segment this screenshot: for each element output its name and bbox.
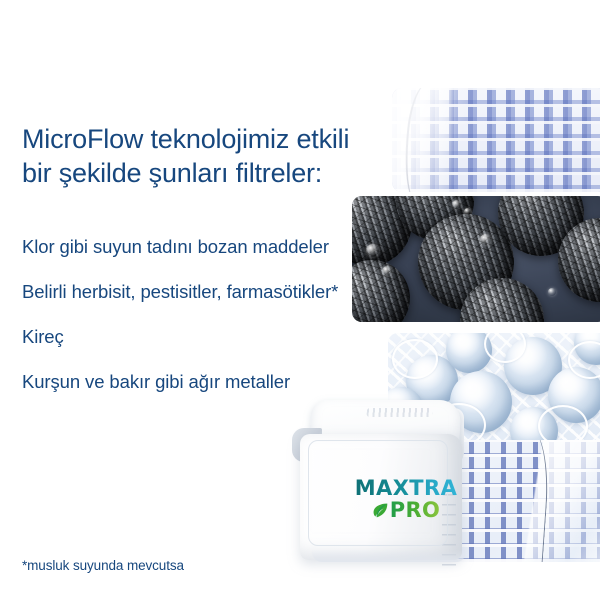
water-bubble <box>366 244 379 257</box>
benefit-list: Klor gibi suyun tadını bozan maddeler Be… <box>22 235 358 415</box>
list-item: Belirli herbisit, pestisitler, farmasöti… <box>22 280 358 304</box>
page-title: MicroFlow teknolojimiz etkili bir şekild… <box>22 122 374 190</box>
image-panel-carbon <box>352 196 600 322</box>
list-item: Kurşun ve bakır gibi ağır metaller <box>22 370 358 394</box>
filter-base <box>312 550 466 562</box>
mesh-highlight <box>392 88 452 192</box>
brand-name-maxtra: MAXTRA <box>344 478 468 499</box>
water-bubble <box>382 266 392 276</box>
promo-graphic: MAXTRA PRO MicroFlow teknolojimiz etkili… <box>0 0 600 600</box>
leaf-icon <box>372 503 389 518</box>
water-bubble <box>548 288 556 296</box>
fibre-loop <box>538 405 588 445</box>
brand-name-pro: PRO <box>390 500 441 521</box>
list-item: Kireç <box>22 325 358 349</box>
image-panel-mesh <box>392 88 600 192</box>
fibre-loop <box>392 339 438 379</box>
water-bubble <box>480 234 491 245</box>
water-bubble <box>464 208 471 215</box>
footnote: *musluk suyunda mevcutsa <box>22 558 184 573</box>
filter-lid-ridge <box>367 408 433 417</box>
maxtra-pro-filter-product: MAXTRA PRO <box>292 398 478 560</box>
water-bubble <box>452 200 461 209</box>
brand-pro-row: PRO <box>344 500 468 521</box>
list-item: Klor gibi suyun tadını bozan maddeler <box>22 235 358 259</box>
brand-lockup: MAXTRA PRO <box>344 478 468 521</box>
carbon-sphere <box>352 260 410 322</box>
